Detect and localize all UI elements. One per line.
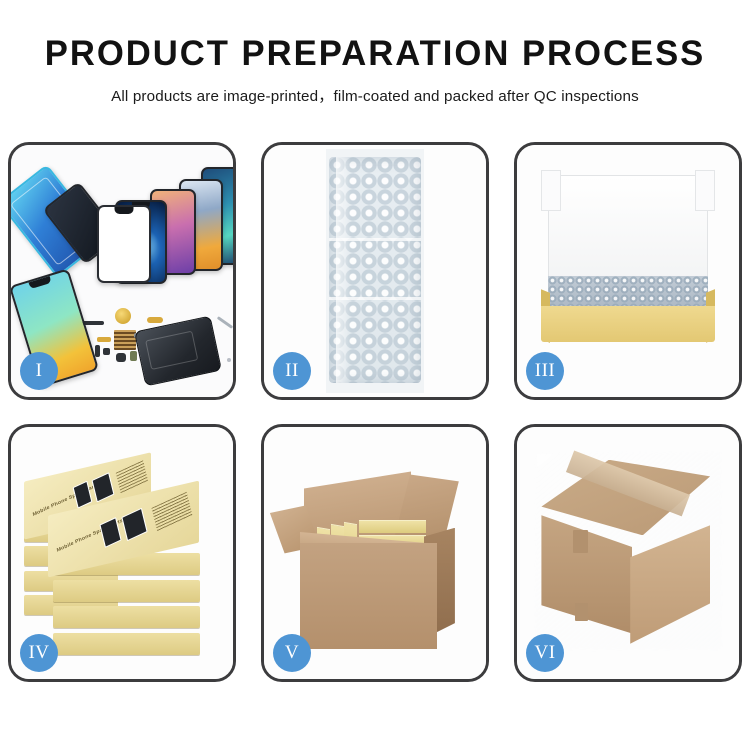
process-step-panel-1: I (8, 142, 236, 400)
step-badge-1: I (20, 352, 58, 390)
step-badge-5: V (273, 634, 311, 672)
wrap-seam (329, 297, 421, 300)
box-lid-flap-left (541, 170, 561, 210)
carton-front-panel (300, 543, 438, 649)
carton-hand-hole-tab (575, 603, 588, 621)
phone-notch-icon (115, 207, 134, 214)
box-lid-flap-right (695, 170, 715, 210)
retail-box-stack: Mobile Phone Spare Parts Mobile Phone Sp… (20, 442, 224, 664)
step-badge-3: III (526, 352, 564, 390)
process-step-panel-3: III (514, 142, 742, 400)
retail-box (53, 580, 200, 602)
carton-hand-hole-tab (573, 530, 589, 553)
battery-connector-part (130, 351, 137, 361)
phone-back-housing-part (134, 316, 222, 387)
process-step-panel-5: V (261, 424, 489, 682)
box-lid-panel (548, 175, 708, 291)
box-product-image (72, 480, 92, 508)
retail-box (53, 606, 200, 628)
speaker-part (116, 353, 126, 362)
box-spec-lines (152, 491, 193, 531)
page-title: PRODUCT PREPARATION PROCESS (4, 34, 747, 73)
phone-notch-icon (29, 276, 52, 289)
bubble-wrap-wrapped-product (329, 157, 421, 383)
button-part (95, 345, 100, 357)
box-product-image (91, 472, 114, 502)
phone-tempered-glass-clear (97, 205, 151, 283)
wrap-seam (329, 238, 421, 241)
plastic-glare-highlight (336, 157, 351, 383)
box-spec-lines (115, 460, 147, 494)
box-front-panel (541, 306, 714, 341)
process-step-panel-6: VI (514, 424, 742, 682)
step-badge-6: VI (526, 634, 564, 672)
vibration-motor-part (115, 308, 131, 324)
flex-cable-part (147, 317, 163, 323)
process-step-panel-4: Mobile Phone Spare Parts Mobile Phone Sp… (8, 424, 236, 682)
screw-part (234, 364, 236, 368)
screw-part (227, 358, 231, 362)
packed-retail-box (359, 520, 426, 533)
flex-cable-part (97, 337, 111, 342)
page-header: PRODUCT PREPARATION PROCESS All products… (0, 0, 750, 106)
page-subtitle: All products are image-printed，film-coat… (0, 84, 750, 106)
tweezers-tool (217, 316, 233, 329)
logic-board-part (114, 330, 136, 350)
process-step-panel-2: II (261, 142, 489, 400)
box-product-image (121, 507, 147, 541)
step-badge-2: II (273, 352, 311, 390)
retail-box (53, 633, 200, 655)
process-steps-grid: I II III (8, 142, 742, 682)
camera-module-part (103, 348, 110, 355)
step-badge-4: IV (20, 634, 58, 672)
